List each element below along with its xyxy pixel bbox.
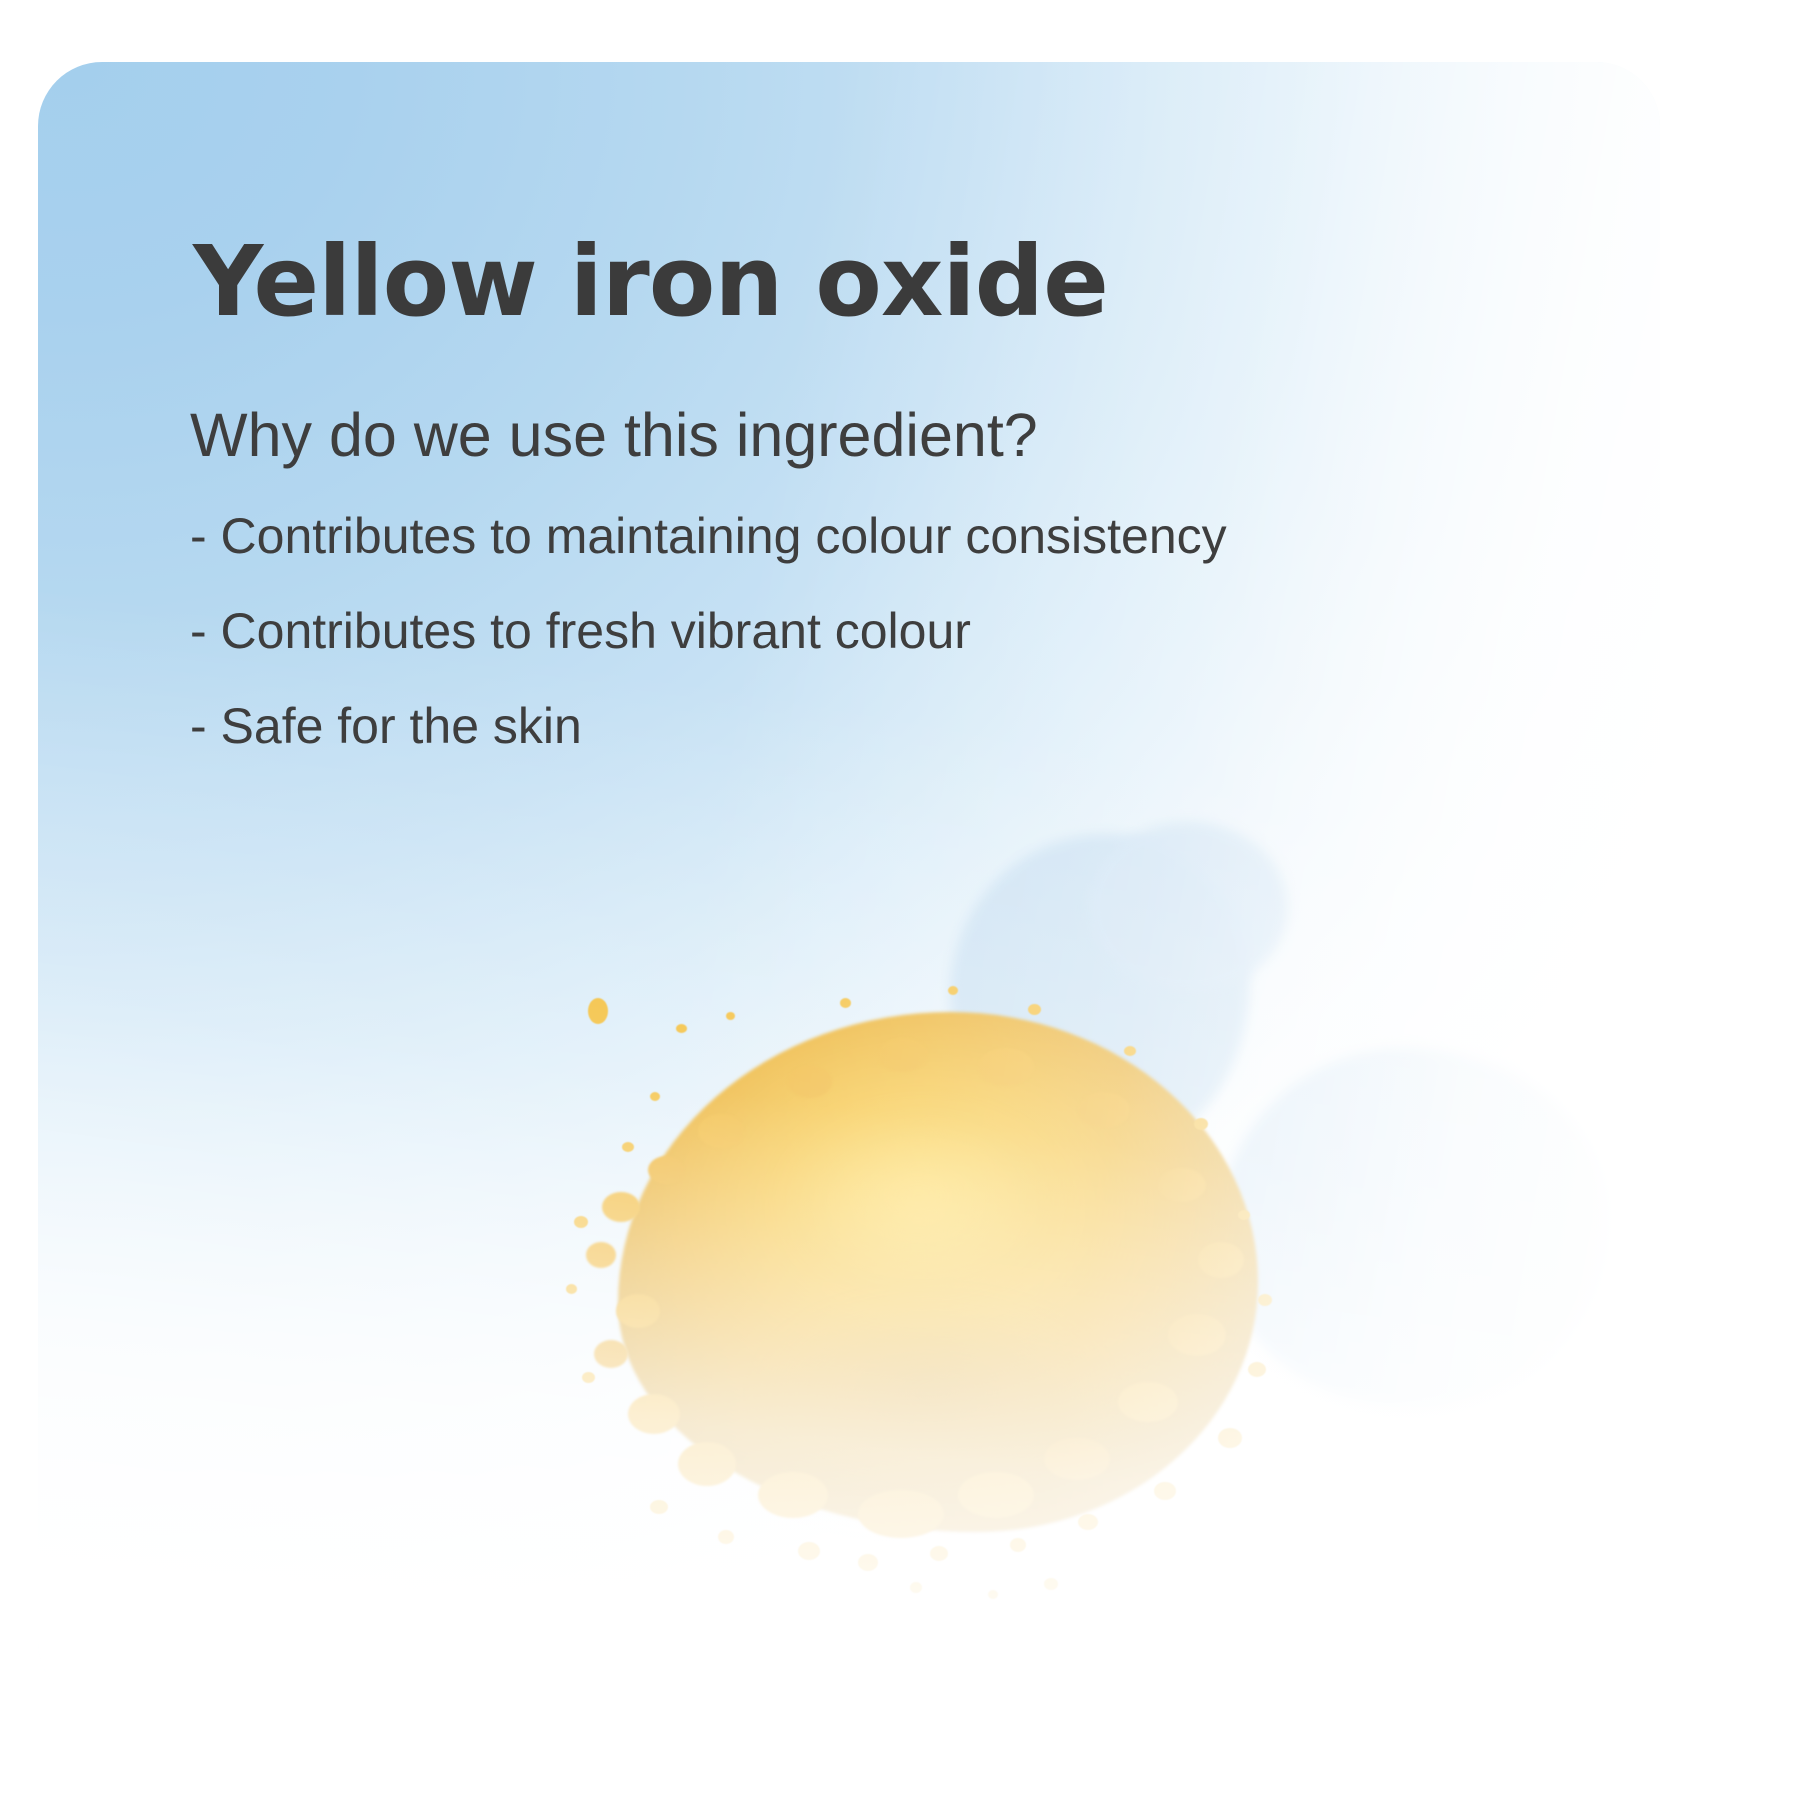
powder-clump [1078,1092,1130,1128]
benefits-list: - Contributes to maintaining colour cons… [190,510,1510,795]
powder-speck [726,1012,735,1020]
powder-speck [858,1554,878,1571]
powder-clump [616,1294,660,1328]
powder-speck [840,998,851,1008]
powder-clump [586,1242,616,1268]
powder-speck [676,1024,687,1033]
page-title: Yellow iron oxide [193,230,1108,335]
powder-speck [650,1500,668,1514]
powder-clump [1198,1242,1244,1278]
powder-clump [678,1442,736,1486]
powder-clump [878,1038,928,1072]
powder-clump [978,1048,1034,1086]
powder-clump [628,1394,680,1434]
powder-clump [1168,1314,1226,1356]
powder-speck [1028,1004,1041,1015]
powder-speck [1258,1294,1272,1306]
powder-clump [698,1114,744,1148]
powder-speck [930,1546,948,1561]
powder-speck [948,986,958,995]
powder-speck [910,1582,922,1593]
powder-clump [1118,1382,1178,1422]
powder-image [558,942,1318,1592]
poster-canvas: Yellow iron oxide Why do we use this ing… [0,0,1800,1800]
powder-speck [582,1372,595,1383]
section-subtitle: Why do we use this ingredient? [190,402,1038,469]
powder-speck [1044,1578,1058,1590]
list-item: - Contributes to fresh vibrant colour [190,605,1510,658]
powder-clump [594,1340,628,1368]
powder-clump [1044,1438,1110,1480]
powder-lowlight [698,1272,1168,1512]
powder-speck [1218,1428,1242,1448]
powder-clump [758,1472,828,1518]
powder-clump [602,1192,640,1222]
powder-speck [1194,1118,1208,1130]
ingredient-card: Yellow iron oxide Why do we use this ing… [38,62,1660,1706]
powder-clump [1158,1168,1206,1202]
powder-speck [1010,1538,1026,1552]
powder-speck [1238,1210,1250,1220]
list-item: - Contributes to maintaining colour cons… [190,510,1510,563]
powder-clump [958,1472,1034,1518]
list-item: - Safe for the skin [190,700,1510,753]
powder-clump [648,1156,684,1184]
powder-speck [988,1590,998,1599]
powder-speck [574,1216,588,1228]
powder-speck [1078,1514,1098,1530]
powder-speck [798,1542,820,1560]
powder-speck [1124,1046,1136,1056]
powder-speck [566,1284,577,1294]
powder-speck [588,998,608,1024]
powder-clump [788,1066,832,1098]
powder-speck [650,1092,660,1101]
powder-speck [718,1530,734,1544]
powder-clump [858,1490,944,1538]
powder-speck [1248,1362,1266,1377]
powder-speck [622,1142,634,1152]
powder-speck [1154,1482,1176,1500]
